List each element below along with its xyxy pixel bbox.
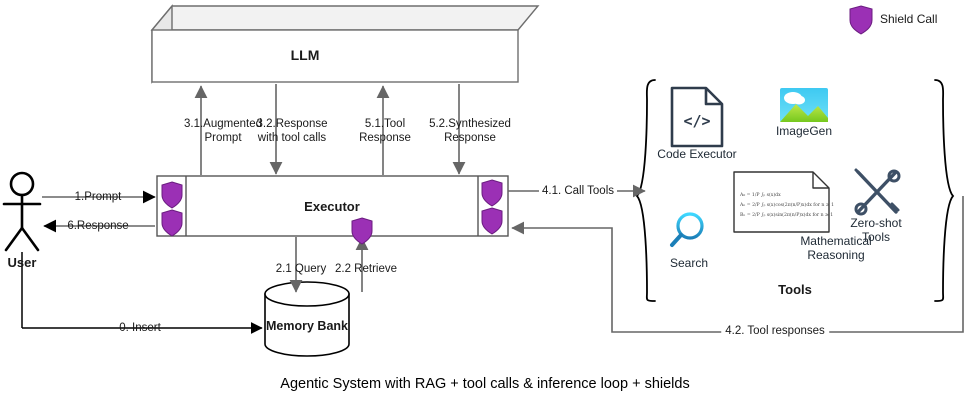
tool-label-zero-shot-l2: Tools [862,230,890,244]
formula-document-icon: A₀ = 1/P ∫ₚ s(x)dx Aₙ = 2/P ∫ₚ s(x)cos(2… [734,172,834,232]
tool-label-imagegen: ImageGen [776,124,832,138]
edge-label-response: 6.Response [67,220,128,233]
edge-label-retrieve: 2.2 Retrieve [335,263,397,276]
edge-label-augmented-prompt-l2: Prompt [204,132,241,144]
legend-label: Shield Call [880,13,937,26]
edge-label-tool-response-l2: Response [359,132,411,144]
tool-label-zero-shot-l1: Zero-shot [850,216,901,230]
tool-label-code-executor: Code Executor [657,147,736,161]
diagram-caption: Agentic System with RAG + tool calls & i… [0,376,970,392]
svg-text:Aₙ = 2/P ∫ₚ s(x)cos(2π(n/P)x)d: Aₙ = 2/P ∫ₚ s(x)cos(2π(n/P)x)dx for n ≥ … [739,201,834,208]
tool-label-search: Search [670,256,708,270]
user-label: User [8,256,37,269]
edge-label-synthesized-response-l2: Response [444,132,496,144]
llm-label: LLM [291,49,320,62]
svg-text:A₀ = 1/P ∫ₚ s(x)dx: A₀ = 1/P ∫ₚ s(x)dx [739,191,781,198]
code-document-icon: </> [672,88,722,146]
edge-label-query: 2.1 Query [276,263,327,276]
edge-insert [22,252,262,328]
tool-label-math-l2: Reasoning [807,248,864,262]
diagram-canvas: </> A₀ = 1/P ∫ₚ s(x)dx Aₙ = 2/P ∫ₚ s(x)c… [0,0,970,411]
svg-text:Bₙ = 2/P ∫ₚ s(x)sin(2π(n/P)x)d: Bₙ = 2/P ∫ₚ s(x)sin(2π(n/P)x)dx for n ≥ … [740,211,833,218]
shield-exec-memory-icon [352,218,372,244]
edge-label-synthesized-response-l1: 5.2.Synthesized [429,118,511,130]
crossed-tools-icon [856,170,899,214]
legend-shield-icon [850,6,872,34]
edge-label-response-tool-calls-l1: 3.2.Response [257,118,328,130]
edge-label-insert: 0. Insert [119,322,161,335]
magnifier-icon [672,214,702,245]
llm-node[interactable] [152,6,538,82]
edge-label-tool-response-l1: 5.1.Tool [365,118,405,130]
image-icon [780,88,828,122]
edge-label-prompt: 1.Prompt [75,191,122,204]
edge-label-call-tools: 4.1. Call Tools [539,185,617,198]
edge-label-tool-responses: 4.2. Tool responses [721,325,829,338]
edge-label-response-tool-calls-l2: with tool calls [258,132,326,144]
svg-text:</>: </> [683,112,710,130]
user-figure[interactable] [4,173,40,250]
memory-bank-label: Memory Bank [266,320,348,333]
executor-label: Executor [304,200,360,213]
tools-group-label: Tools [778,283,812,296]
